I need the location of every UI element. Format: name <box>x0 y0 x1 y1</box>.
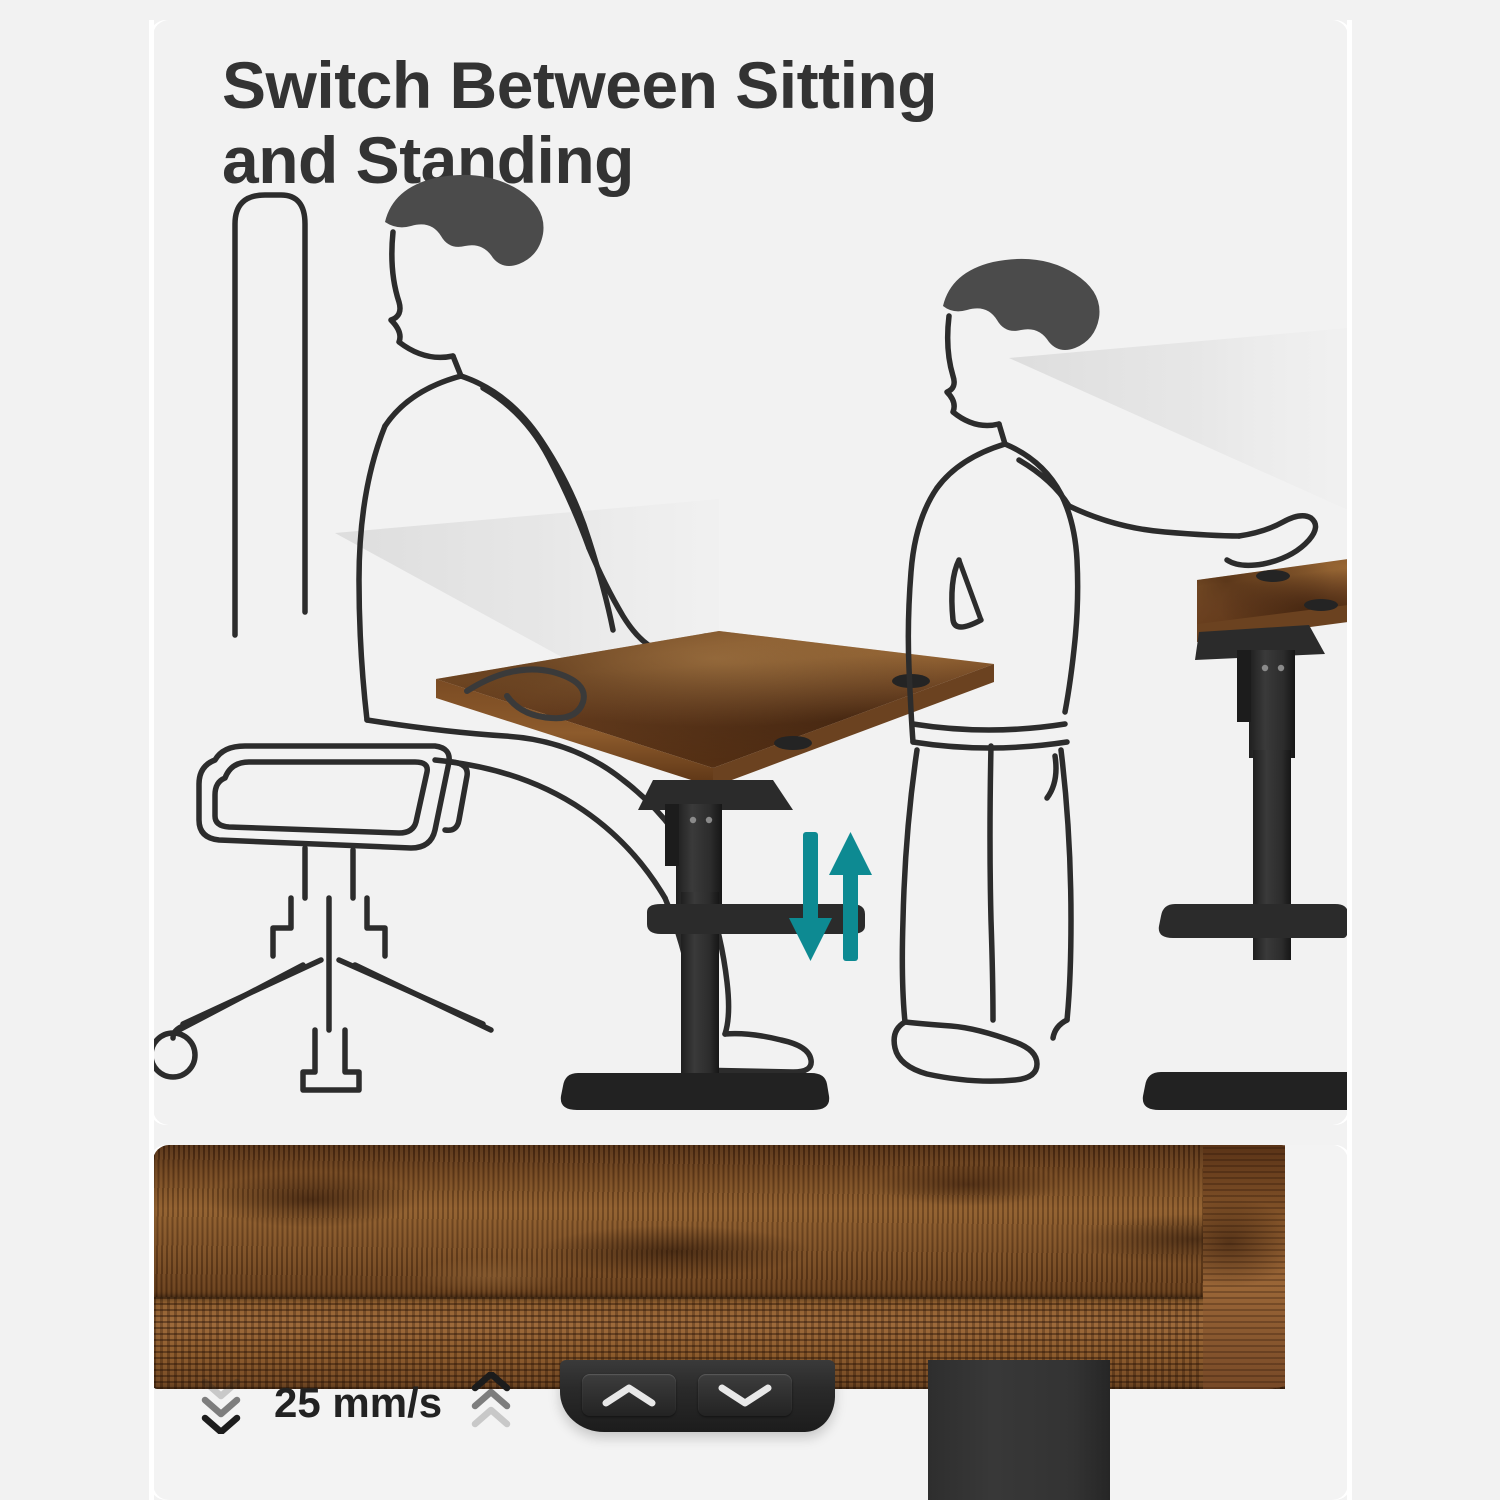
office-chair-outline <box>153 195 491 1090</box>
sit-stand-illustration <box>153 20 1348 1125</box>
chevron-down-icon <box>717 1382 773 1408</box>
arrow-down-icon <box>789 832 832 961</box>
arrow-up-icon <box>829 832 872 961</box>
desktop-closeup <box>153 1145 1348 1500</box>
lift-speed-spec: 25 mm/s <box>198 1368 514 1438</box>
chevron-up-icon <box>601 1382 657 1408</box>
panel-divider-right <box>1347 20 1352 1500</box>
lift-speed-value: 25 mm/s <box>274 1379 442 1427</box>
desktop-surface <box>153 1145 1285 1297</box>
desk-raised <box>1143 559 1348 1110</box>
raise-button[interactable] <box>582 1374 676 1416</box>
desk-controller[interactable] <box>560 1360 835 1432</box>
cable-grommet <box>1304 599 1338 611</box>
triple-chevron-up-icon <box>468 1372 514 1434</box>
seated-person-hair <box>385 175 544 266</box>
desk-leg-column <box>928 1360 1110 1500</box>
gaze-cone-standing <box>1009 328 1348 510</box>
seated-scene <box>153 175 994 1110</box>
lower-button[interactable] <box>698 1374 792 1416</box>
product-feature-image: Switch Between Sitting and Standing <box>0 0 1500 1500</box>
cable-grommet <box>1256 570 1290 582</box>
triple-chevron-down-icon <box>198 1372 244 1434</box>
cable-grommet <box>774 736 812 750</box>
panel-gap <box>1285 1145 1348 1405</box>
standing-person-hair <box>943 259 1100 350</box>
desktop-detail-panel <box>153 1145 1348 1500</box>
panel-divider-left <box>149 20 154 1500</box>
sit-stand-transition-icon <box>789 832 872 961</box>
